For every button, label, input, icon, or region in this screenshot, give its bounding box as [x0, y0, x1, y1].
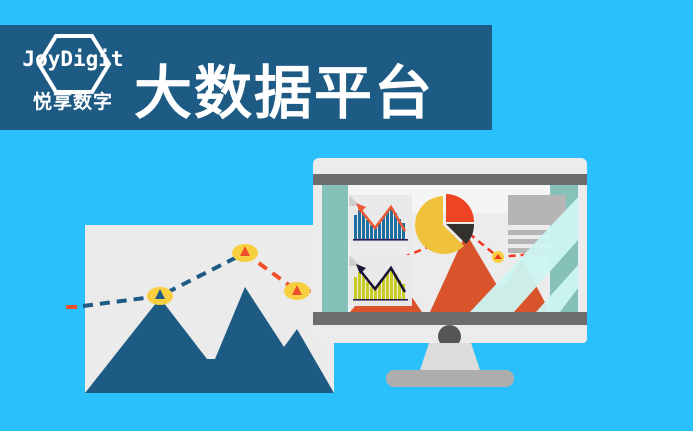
screen-left-strip	[322, 185, 348, 312]
axis-line	[353, 239, 408, 241]
pie-chart	[412, 194, 478, 256]
blue-bar-chart	[353, 201, 409, 243]
bar-chart-card-olive	[349, 255, 412, 306]
monitor-screen	[322, 185, 578, 312]
monitor-stand	[419, 343, 481, 373]
left-mountain-panel	[85, 225, 334, 393]
pie-slice-red	[446, 194, 474, 222]
arrow-head-icon	[356, 203, 366, 213]
bar-chart-card-blue	[349, 195, 412, 246]
logo-chinese-name: 悦享数字	[18, 87, 128, 114]
brand-logo: JoyDigit 悦享数字	[18, 31, 128, 125]
monitor-base	[386, 370, 514, 387]
axis-line	[353, 299, 408, 301]
monitor-bottom-bar	[313, 312, 587, 325]
logo-wordmark: JoyDigit	[18, 47, 128, 71]
placeholder-line	[508, 248, 566, 253]
monitor-top-bar	[313, 174, 587, 185]
header-banner: JoyDigit 悦享数字 大数据平台	[0, 25, 492, 130]
arrow-head-icon	[356, 264, 366, 274]
poster-canvas: JoyDigit 悦享数字 大数据平台	[0, 0, 693, 431]
placeholder-line	[508, 239, 566, 244]
content-placeholder	[508, 195, 566, 253]
placeholder-block	[508, 195, 566, 225]
desktop-monitor	[313, 158, 587, 343]
page-title: 大数据平台	[134, 65, 434, 123]
placeholder-line	[508, 230, 566, 235]
olive-bar-chart	[353, 261, 409, 303]
